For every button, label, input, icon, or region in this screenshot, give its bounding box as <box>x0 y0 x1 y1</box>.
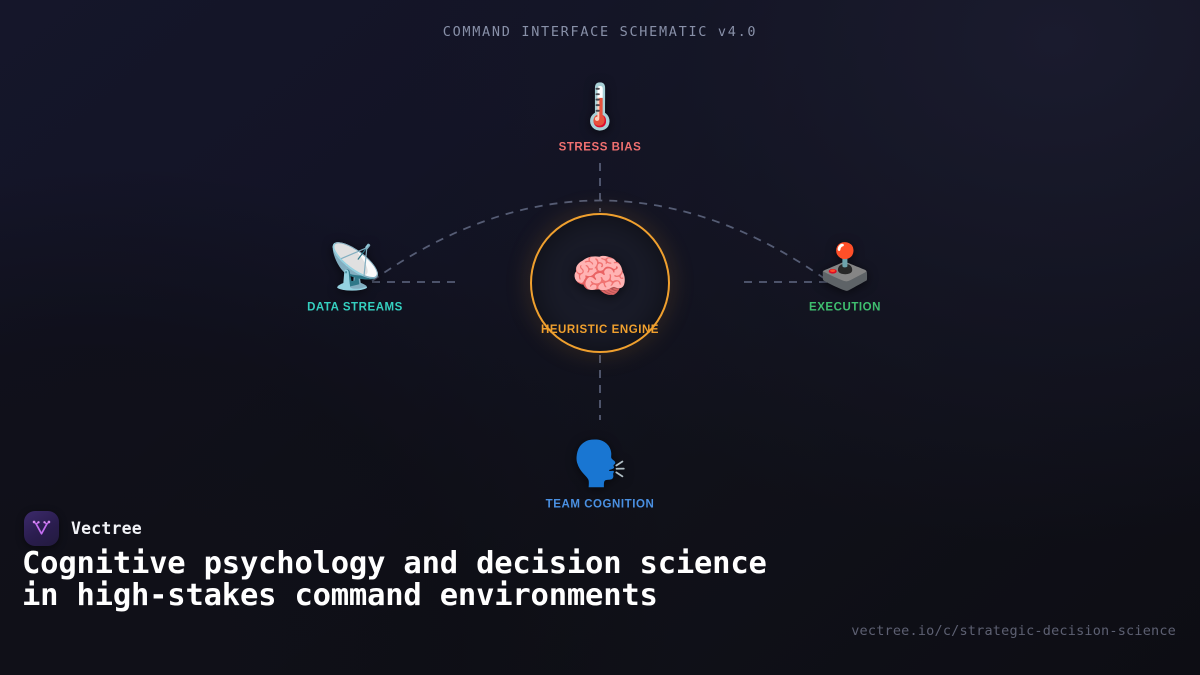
brain-icon: 🧠 <box>571 253 628 299</box>
node-label-stress-bias: STRESS BIAS <box>559 142 642 154</box>
node-label-team-cognition: TEAM COGNITION <box>546 499 655 511</box>
joystick-icon: 🕹️ <box>818 243 873 293</box>
brand-name: Vectree <box>71 519 142 538</box>
speaking-head-icon: 🗣️ <box>573 440 628 490</box>
thermometer-icon: 🌡️ <box>573 83 628 133</box>
node-label-execution: EXECUTION <box>809 302 881 314</box>
satellite-dish-icon: 📡 <box>328 243 383 293</box>
vectree-logo-icon <box>24 511 59 546</box>
brand[interactable]: Vectree <box>24 511 142 546</box>
node-team-cognition[interactable]: 🗣️ TEAM COGNITION <box>505 440 695 511</box>
node-label-data-streams: DATA STREAMS <box>307 302 403 314</box>
page-title: Cognitive psychology and decision scienc… <box>22 548 782 612</box>
node-label-heuristic-engine: HEURISTIC ENGINE <box>541 324 659 336</box>
schematic-canvas: COMMAND INTERFACE SCHEMATIC v4.0 🌡️ STRE… <box>0 0 1200 675</box>
node-execution[interactable]: 🕹️ EXECUTION <box>750 243 940 314</box>
page-url: vectree.io/c/strategic-decision-science <box>851 623 1176 639</box>
node-data-streams[interactable]: 📡 DATA STREAMS <box>260 243 450 314</box>
node-stress-bias[interactable]: 🌡️ STRESS BIAS <box>505 83 695 154</box>
